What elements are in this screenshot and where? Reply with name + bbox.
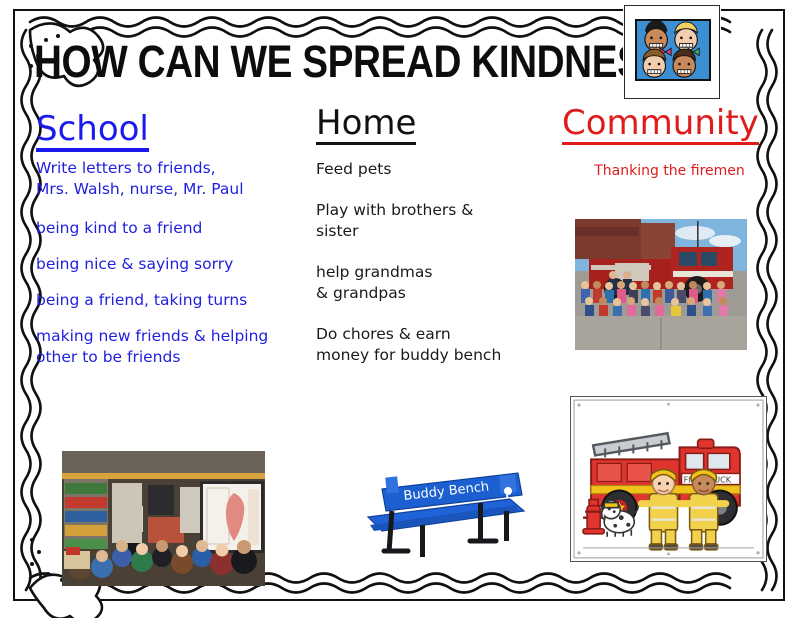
list-item: being kind to a friend [36,218,316,239]
page-title: HOW CAN WE SPREAD KINDNESS? [34,36,533,88]
four-kids-faces-icon [635,19,711,81]
list-item: Play with brothers & sister [316,200,556,242]
kids-clipart-card [624,5,720,99]
list-item: Thanking the firemen [562,161,777,182]
column-school: School Write letters to friends, Mrs. Wa… [36,110,316,383]
list-item: being a friend, taking turns [36,290,316,311]
list-item: making new friends & helping other to be… [36,326,316,368]
column-community: Community Thanking the firemen [562,104,777,182]
list-item: Write letters to friends, Mrs. Walsh, nu… [36,158,316,200]
column-heading-school: School [36,110,149,152]
column-home: Home Feed pets Play with brothers & sist… [316,104,556,386]
classroom-photo [62,451,265,586]
column-heading-home: Home [316,104,416,145]
column-heading-community: Community [562,104,759,145]
firetruck-group-photo [575,219,747,350]
home-item-list: Feed pets Play with brothers & sister he… [316,159,556,366]
list-item: help grandmas & grandpas [316,262,556,304]
buddy-bench-photo: Buddy Bench [358,455,538,565]
kindness-poster: HOW CAN WE SPREAD KINDNESS? [0,0,800,618]
school-item-list: Write letters to friends, Mrs. Walsh, nu… [36,158,316,368]
list-item: Feed pets [316,159,556,180]
community-item-list: Thanking the firemen [562,161,777,182]
thank-you-firefighters-clipart: Thank you, Firefighters! FIRE TRUCK [570,396,767,562]
list-item: Do chores & earn money for buddy bench [316,324,556,366]
list-item: being nice & saying sorry [36,254,316,275]
